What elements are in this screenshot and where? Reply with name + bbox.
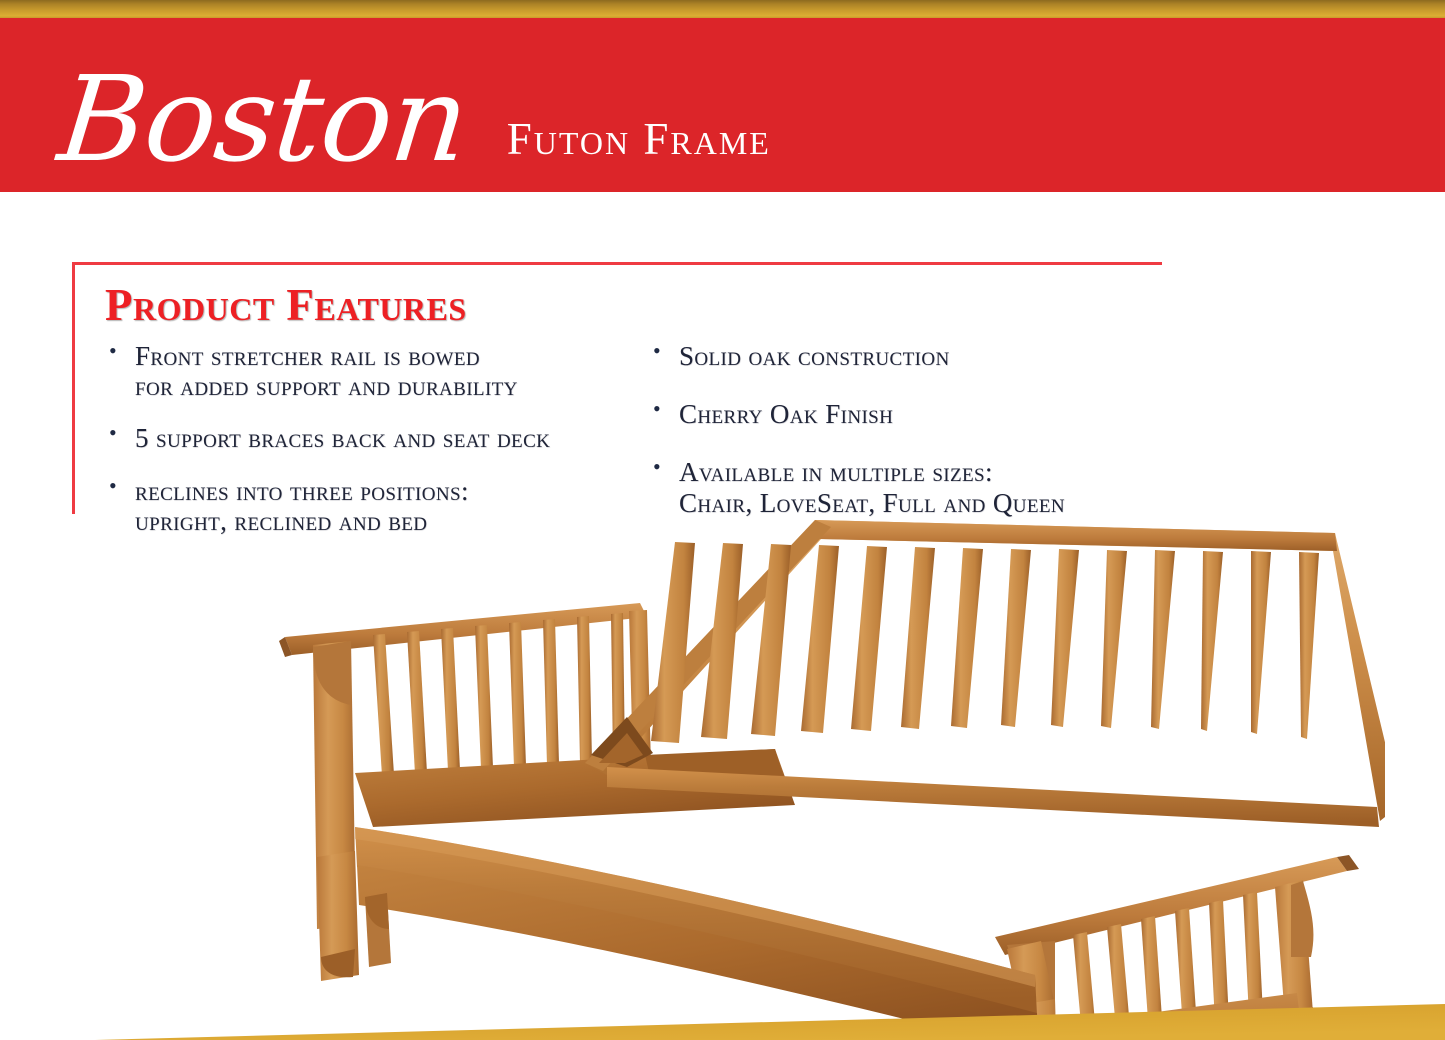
top-gold-bar xyxy=(0,0,1445,18)
product-photo xyxy=(255,505,1385,1025)
feature-text: Cherry Oak Finish xyxy=(679,399,893,429)
feature-list-item: • Solid oak construction xyxy=(653,341,1165,371)
bullet-icon: • xyxy=(653,455,679,478)
feature-text-line: for added support and durability xyxy=(135,371,518,401)
feature-text-line: Available in multiple sizes: xyxy=(679,457,993,487)
product-features-heading: Product Features xyxy=(105,279,467,331)
bullet-icon: • xyxy=(109,339,135,362)
banner-title-group: Boston Futon Frame xyxy=(60,65,771,174)
product-features-panel: Product Features • Front stretcher rail … xyxy=(72,262,1162,514)
feature-list-item: • Cherry Oak Finish xyxy=(653,399,1165,429)
feature-list-item: • 5 support braces back and seat deck xyxy=(109,423,645,453)
feature-text-line: Solid oak construction xyxy=(679,341,950,371)
feature-text-line: reclines into three positions: xyxy=(135,476,469,506)
brochure-page: Boston Futon Frame Product Features • Fr… xyxy=(0,0,1445,1040)
feature-text: 5 support braces back and seat deck xyxy=(135,423,550,453)
feature-text-line: Front stretcher rail is bowed xyxy=(135,341,480,371)
bullet-icon: • xyxy=(653,339,679,362)
bullet-icon: • xyxy=(653,397,679,420)
feature-text: Front stretcher rail is bowed for added … xyxy=(135,341,518,401)
bullet-icon: • xyxy=(109,421,135,444)
feature-text-line: Cherry Oak Finish xyxy=(679,399,893,429)
bullet-icon: • xyxy=(109,474,135,497)
feature-text: Solid oak construction xyxy=(679,341,950,371)
feature-text-line: 5 support braces back and seat deck xyxy=(135,423,550,453)
brand-name: Boston xyxy=(54,65,472,174)
feature-list-item: • Front stretcher rail is bowed for adde… xyxy=(109,341,645,401)
product-subtitle: Futon Frame xyxy=(507,113,771,165)
title-banner: Boston Futon Frame xyxy=(0,18,1445,192)
